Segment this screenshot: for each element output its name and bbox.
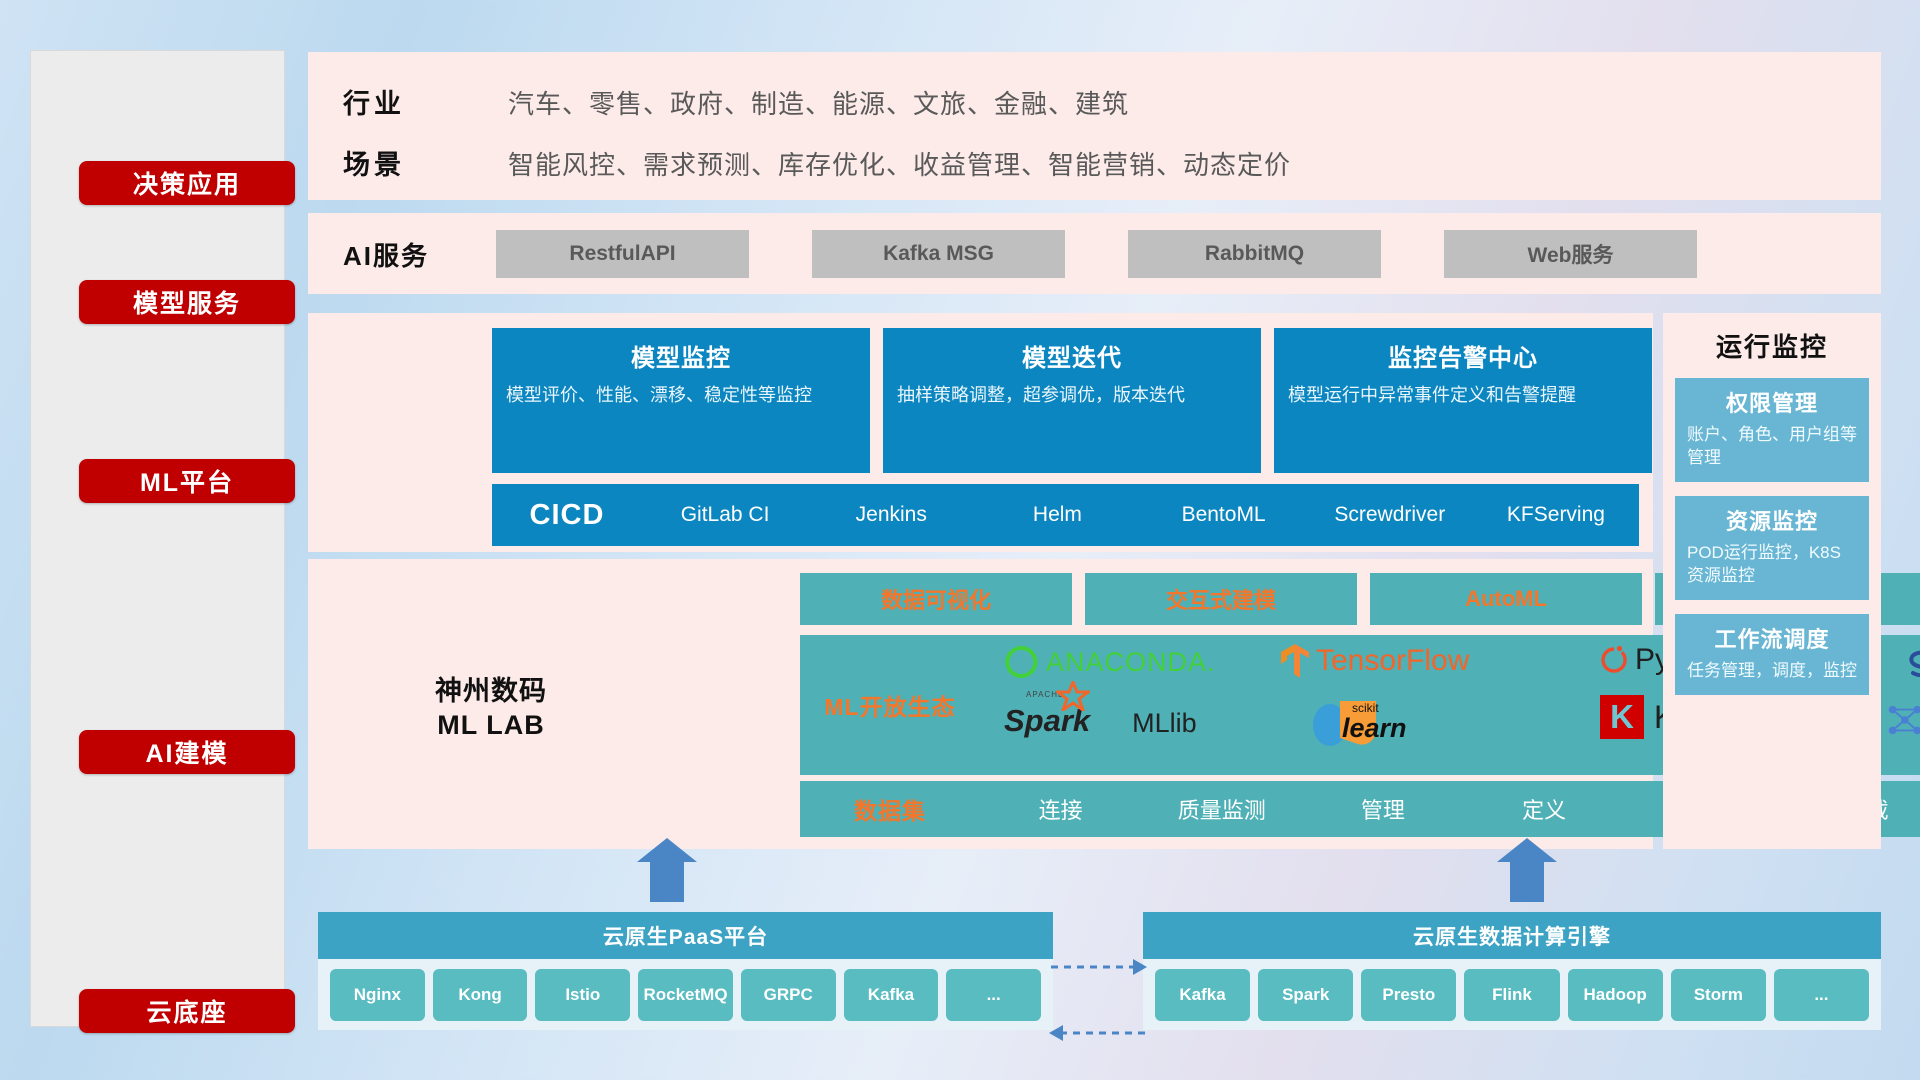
mlops-card-list: 模型监控 模型评价、性能、漂移、稳定性等监控 模型迭代 抽样策略调整，超参调优，…: [492, 328, 1652, 473]
mlops-band: MLOps 模型监控 模型评价、性能、漂移、稳定性等监控 模型迭代 抽样策略调整…: [308, 313, 1653, 552]
cloud-foundation-row: 云原生PaaS平台 Nginx Kong Istio RocketMQ GRPC…: [308, 890, 1881, 1030]
ml-lab-label-line2: ML LAB: [435, 709, 547, 743]
cicd-item-gitlab-ci[interactable]: GitLab CI: [642, 503, 808, 527]
rail-item-model-service[interactable]: 模型服务: [79, 280, 295, 324]
rail-item-ml-platform[interactable]: ML平台: [79, 459, 295, 503]
ai-service-chip-list: RestfulAPI Kafka MSG RabbitMQ Web服务: [496, 230, 1697, 278]
rail-item-ai-modeling[interactable]: AI建模: [79, 730, 295, 774]
rail-label: AI建模: [145, 734, 228, 770]
monitor-box-workflow[interactable]: 工作流调度 任务管理，调度，监控: [1675, 614, 1869, 695]
dataset-item-connect[interactable]: 连接: [980, 793, 1141, 825]
tool-automl[interactable]: AutoML: [1370, 573, 1642, 625]
industry-scenario-band: 行业 汽车、零售、政府、制造、能源、文旅、金融、建筑 场景 智能风控、需求预测、…: [308, 52, 1881, 200]
sas-logo: sas: [1905, 647, 1920, 679]
monitor-box-permission[interactable]: 权限管理 账户、角色、用户组等管理: [1675, 378, 1869, 482]
mllib-wordmark: MLlib: [1132, 708, 1197, 739]
rail-label: ML平台: [140, 463, 234, 499]
card-desc: 模型评价、性能、漂移、稳定性等监控: [506, 383, 856, 408]
scenario-values: 智能风控、需求预测、库存优化、收益管理、智能营销、动态定价: [508, 145, 1291, 182]
chip-kafka-msg[interactable]: Kafka MSG: [812, 230, 1065, 278]
monitor-box-resource[interactable]: 资源监控 POD运行监控，K8S资源监控: [1675, 496, 1869, 600]
ecosystem-label: ML开放生态: [800, 688, 980, 722]
dataset-item-quality-monitor[interactable]: 质量监测: [1141, 793, 1302, 825]
chip-restful-api[interactable]: RestfulAPI: [496, 230, 749, 278]
runtime-monitor-header: 运行监控: [1663, 313, 1881, 364]
engine-tile-storm[interactable]: Storm: [1671, 969, 1766, 1021]
engine-tile-hadoop[interactable]: Hadoop: [1568, 969, 1663, 1021]
cicd-item-helm[interactable]: Helm: [974, 503, 1140, 527]
diagram-canvas: 决策应用 模型服务 ML平台 AI建模 云底座 行业 汽车、零售、政府、制造、能…: [0, 0, 1920, 1080]
paas-tile-istio[interactable]: Istio: [535, 969, 630, 1021]
dataset-label: 数据集: [800, 792, 980, 826]
ml-lab-label: 神州数码 ML LAB: [435, 675, 547, 743]
bidirectional-dashed-arrows-icon: [1043, 945, 1153, 1065]
paas-tile-list: Nginx Kong Istio RocketMQ GRPC Kafka ...: [318, 959, 1053, 1021]
data-engine-box: 云原生数据计算引擎 Kafka Spark Presto Flink Hadoo…: [1143, 912, 1881, 1030]
networkx-icon: [1885, 699, 1920, 741]
cicd-item-bentoml[interactable]: BentoML: [1141, 503, 1307, 527]
dataset-item-define[interactable]: 定义: [1464, 793, 1625, 825]
box-title: 权限管理: [1687, 386, 1857, 418]
anaconda-logo: ANACONDA.: [1004, 645, 1216, 679]
sas-icon: [1905, 649, 1920, 677]
cicd-label: CICD: [492, 499, 642, 532]
engine-tile-flink[interactable]: Flink: [1464, 969, 1559, 1021]
tool-interactive-modeling[interactable]: 交互式建模: [1085, 573, 1357, 625]
industry-label: 行业: [343, 82, 405, 121]
engine-title: 云原生数据计算引擎: [1143, 912, 1881, 959]
learn-wordmark: learn: [1342, 713, 1407, 744]
cicd-item-screwdriver[interactable]: Screwdriver: [1307, 503, 1473, 527]
engine-tile-spark[interactable]: Spark: [1258, 969, 1353, 1021]
rail-label: 云底座: [146, 993, 227, 1029]
mlops-card-model-iteration[interactable]: 模型迭代 抽样策略调整，超参调优，版本迭代: [883, 328, 1261, 473]
engine-tile-more[interactable]: ...: [1774, 969, 1869, 1021]
engine-tile-list: Kafka Spark Presto Flink Hadoop Storm ..…: [1143, 959, 1881, 1021]
card-title: 模型监控: [506, 338, 856, 373]
box-desc: 任务管理，调度，监控: [1687, 660, 1857, 683]
paas-tile-kafka[interactable]: Kafka: [844, 969, 939, 1021]
ml-lab-band: 神州数码 ML LAB 数据可视化 交互式建模 AutoML JupyterLa…: [308, 559, 1653, 849]
rail-item-cloud-base[interactable]: 云底座: [79, 989, 295, 1033]
paas-tile-rocketmq[interactable]: RocketMQ: [638, 969, 733, 1021]
box-title: 资源监控: [1687, 504, 1857, 536]
tensorflow-icon: [1280, 643, 1310, 679]
mlops-card-model-monitor[interactable]: 模型监控 模型评价、性能、漂移、稳定性等监控: [492, 328, 870, 473]
engine-tile-kafka[interactable]: Kafka: [1155, 969, 1250, 1021]
card-title: 监控告警中心: [1288, 338, 1638, 373]
runtime-monitor-column: 运行监控 权限管理 账户、角色、用户组等管理 资源监控 POD运行监控，K8S资…: [1663, 313, 1881, 849]
paas-title: 云原生PaaS平台: [318, 912, 1053, 959]
rail-label: 模型服务: [133, 284, 241, 320]
anaconda-wordmark: ANACONDA.: [1046, 647, 1216, 678]
box-title: 工作流调度: [1687, 622, 1857, 654]
tool-data-visualization[interactable]: 数据可视化: [800, 573, 1072, 625]
cicd-strip: CICD GitLab CI Jenkins Helm BentoML Scre…: [492, 484, 1639, 546]
pytorch-icon: [1600, 643, 1628, 677]
ai-service-label: AI服务: [343, 236, 429, 273]
networkx-logo: NetworkX Network Analysis in Python: [1885, 697, 1920, 743]
paas-tile-grpc[interactable]: GRPC: [741, 969, 836, 1021]
industry-values: 汽车、零售、政府、制造、能源、文旅、金融、建筑: [508, 84, 1129, 121]
cicd-item-kfserving[interactable]: KFServing: [1473, 503, 1639, 527]
box-desc: POD运行监控，K8S资源监控: [1687, 542, 1857, 588]
anaconda-icon: [1004, 645, 1038, 679]
rail-label: 决策应用: [133, 165, 241, 201]
rail-item-decision-app[interactable]: 决策应用: [79, 161, 295, 205]
mlops-card-alert-center[interactable]: 监控告警中心 模型运行中异常事件定义和告警提醒: [1274, 328, 1652, 473]
ai-service-band: AI服务 RestfulAPI Kafka MSG RabbitMQ Web服务: [308, 213, 1881, 294]
paas-platform-box: 云原生PaaS平台 Nginx Kong Istio RocketMQ GRPC…: [318, 912, 1053, 1030]
keras-icon: K: [1600, 695, 1644, 739]
engine-tile-presto[interactable]: Presto: [1361, 969, 1456, 1021]
spark-mllib-logo: APACHE Spark MLlib: [1004, 703, 1197, 739]
cicd-item-jenkins[interactable]: Jenkins: [808, 503, 974, 527]
scenario-label: 场景: [343, 143, 405, 182]
box-desc: 账户、角色、用户组等管理: [1687, 424, 1857, 470]
card-title: 模型迭代: [897, 338, 1247, 373]
paas-tile-more[interactable]: ...: [946, 969, 1041, 1021]
scikit-learn-logo: scikit learn: [1310, 697, 1380, 754]
paas-tile-kong[interactable]: Kong: [433, 969, 528, 1021]
tensorflow-wordmark: TensorFlow: [1316, 644, 1469, 678]
left-layer-rail: 决策应用 模型服务 ML平台 AI建模 云底座: [30, 50, 285, 1027]
dataset-item-manage[interactable]: 管理: [1302, 793, 1463, 825]
spark-star-icon: [1056, 681, 1090, 711]
tensorflow-logo: TensorFlow: [1280, 643, 1469, 679]
chip-web-service[interactable]: Web服务: [1444, 230, 1697, 278]
ml-lab-label-line1: 神州数码: [435, 675, 547, 709]
card-desc: 抽样策略调整，超参调优，版本迭代: [897, 383, 1247, 408]
paas-tile-nginx[interactable]: Nginx: [330, 969, 425, 1021]
chip-rabbitmq[interactable]: RabbitMQ: [1128, 230, 1381, 278]
card-desc: 模型运行中异常事件定义和告警提醒: [1288, 383, 1638, 408]
